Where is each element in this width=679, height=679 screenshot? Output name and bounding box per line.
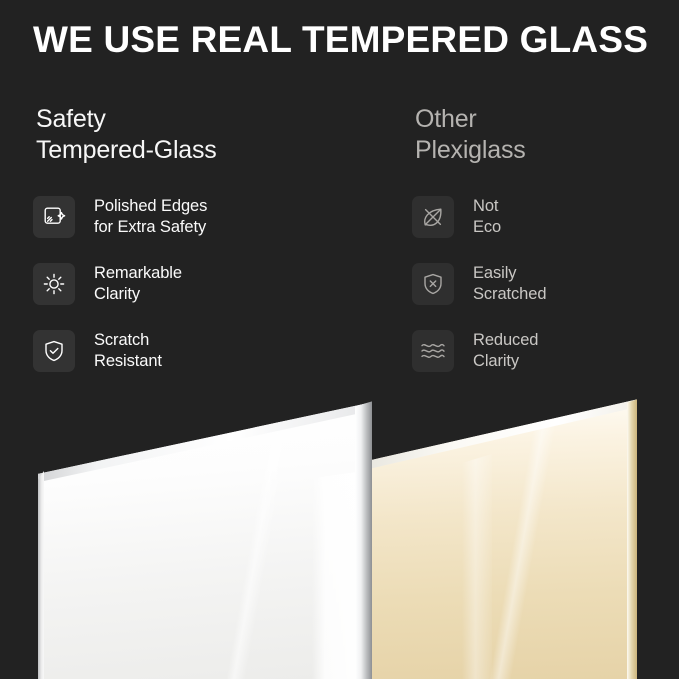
tempered-glass-panel-reflection bbox=[312, 472, 356, 679]
feature-line-2: Clarity bbox=[473, 351, 538, 372]
feature-label-polished-edges: Polished Edges for Extra Safety bbox=[94, 196, 207, 238]
tempered-glass-panel-side-edge bbox=[355, 398, 372, 679]
shield-check-icon bbox=[33, 330, 75, 372]
comparison-infographic: WE USE REAL TEMPERED GLASS Safety Temper… bbox=[0, 0, 679, 679]
comparison-columns: Safety Tempered-Glass bbox=[0, 104, 679, 404]
plexiglass-panel bbox=[372, 398, 637, 679]
feature-line-1: Polished Edges bbox=[94, 196, 207, 217]
feature-label-scratch-resistant: Scratch Resistant bbox=[94, 330, 162, 372]
feature-remarkable-clarity: Remarkable Clarity bbox=[33, 261, 333, 307]
feature-line-2: Eco bbox=[473, 217, 501, 238]
feature-label-not-eco: Not Eco bbox=[473, 196, 501, 238]
polished-edges-icon bbox=[33, 196, 75, 238]
column-safety-tempered-glass: Safety Tempered-Glass bbox=[33, 104, 333, 395]
product-photo bbox=[0, 398, 679, 679]
column-heading-line-2: Tempered-Glass bbox=[36, 135, 333, 166]
feature-line-2: Scratched bbox=[473, 284, 546, 305]
plexiglass-panel-reflection bbox=[462, 454, 492, 679]
feature-scratch-resistant: Scratch Resistant bbox=[33, 328, 333, 374]
wavy-lines-icon bbox=[412, 330, 454, 372]
crossed-leaf-icon bbox=[412, 196, 454, 238]
sun-clarity-icon bbox=[33, 263, 75, 305]
plexiglass-panel-side-edge bbox=[627, 398, 637, 679]
feature-label-reduced-clarity: Reduced Clarity bbox=[473, 330, 538, 372]
column-heading-line-2: Plexiglass bbox=[415, 135, 679, 166]
feature-line-2: Clarity bbox=[94, 284, 182, 305]
feature-line-2: for Extra Safety bbox=[94, 217, 207, 238]
feature-line-2: Resistant bbox=[94, 351, 162, 372]
feature-line-1: Scratch bbox=[94, 330, 162, 351]
tempered-glass-panel-left-edge bbox=[38, 471, 44, 679]
column-heading-line-1: Safety bbox=[36, 104, 333, 135]
feature-line-1: Reduced bbox=[473, 330, 538, 351]
feature-list-plexiglass: Not Eco Easily Scratched bbox=[412, 194, 679, 374]
feature-reduced-clarity: Reduced Clarity bbox=[412, 328, 679, 374]
feature-line-1: Not bbox=[473, 196, 501, 217]
column-heading-other: Other Plexiglass bbox=[415, 104, 679, 166]
shield-x-icon bbox=[412, 263, 454, 305]
feature-easily-scratched: Easily Scratched bbox=[412, 261, 679, 307]
feature-label-easily-scratched: Easily Scratched bbox=[473, 263, 546, 305]
column-other-plexiglass: Other Plexiglass Not Eco bbox=[412, 104, 679, 395]
feature-polished-edges: Polished Edges for Extra Safety bbox=[33, 194, 333, 240]
feature-label-remarkable-clarity: Remarkable Clarity bbox=[94, 263, 182, 305]
column-heading-line-1: Other bbox=[415, 104, 679, 135]
feature-not-eco: Not Eco bbox=[412, 194, 679, 240]
page-title: WE USE REAL TEMPERED GLASS bbox=[33, 18, 653, 62]
feature-line-1: Easily bbox=[473, 263, 546, 284]
column-heading-safety: Safety Tempered-Glass bbox=[36, 104, 333, 166]
feature-list-safety: Polished Edges for Extra Safety bbox=[33, 194, 333, 374]
feature-line-1: Remarkable bbox=[94, 263, 182, 284]
